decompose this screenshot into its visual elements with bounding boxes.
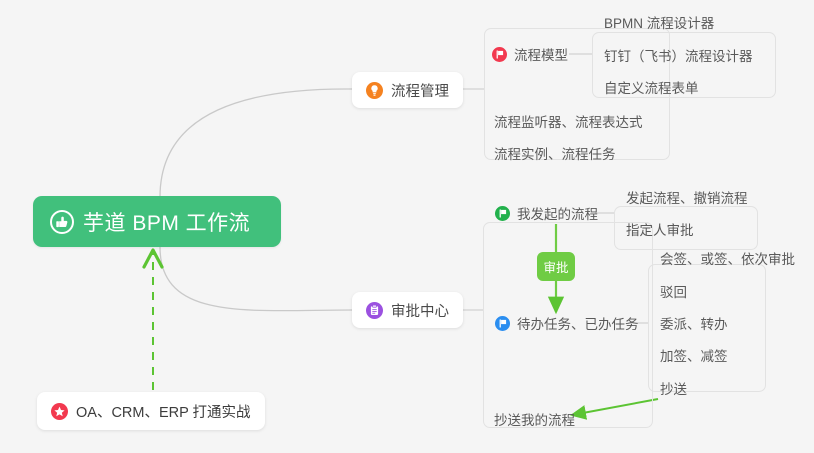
node-bpmn-designer[interactable]: BPMN 流程设计器: [604, 11, 714, 33]
node-label-dingtalk-designer: 钉钉（飞书）流程设计器: [604, 45, 753, 65]
node-label-cc: 抄送: [660, 378, 687, 398]
flag-red-icon: [492, 47, 507, 62]
node-process-instance[interactable]: 流程实例、流程任务: [494, 142, 616, 164]
flag-blue-icon: [495, 316, 510, 331]
root-node[interactable]: 芋道 BPM 工作流: [33, 196, 281, 247]
node-label-assignee-approval: 指定人审批: [626, 219, 694, 239]
node-label-delegate-transfer: 委派、转办: [660, 313, 728, 333]
mindmap-canvas: 芋道 BPM 工作流 流程管理 审批中心: [0, 0, 814, 453]
node-label-countersign: 会签、或签、依次审批: [660, 248, 795, 268]
node-label-process-listener: 流程监听器、流程表达式: [494, 111, 643, 131]
star-icon: [51, 403, 68, 420]
node-my-initiated[interactable]: 我发起的流程: [495, 202, 598, 224]
lightbulb-icon: [366, 82, 383, 99]
node-label-add-remove-sign: 加签、减签: [660, 345, 728, 365]
bottom-note-label: OA、CRM、ERP 打通实战: [76, 401, 251, 422]
node-reject[interactable]: 驳回: [660, 280, 687, 302]
node-label-process-model: 流程模型: [514, 44, 568, 64]
branch-label-process-management: 流程管理: [391, 80, 449, 101]
thumbs-up-icon: [50, 210, 74, 234]
node-cc[interactable]: 抄送: [660, 377, 687, 399]
node-custom-form[interactable]: 自定义流程表单: [604, 76, 699, 98]
node-label-cc-to-me: 抄送我的流程: [494, 409, 575, 429]
approve-tag: 审批: [537, 252, 575, 281]
clipboard-icon: [366, 302, 383, 319]
bottom-note-card[interactable]: OA、CRM、ERP 打通实战: [37, 392, 265, 430]
root-label: 芋道 BPM 工作流: [83, 207, 250, 237]
branch-card-approval-center[interactable]: 审批中心: [352, 292, 463, 328]
node-countersign[interactable]: 会签、或签、依次审批: [660, 247, 795, 269]
node-process-model[interactable]: 流程模型: [492, 43, 568, 65]
node-add-remove-sign[interactable]: 加签、减签: [660, 344, 728, 366]
flag-green-icon: [495, 206, 510, 221]
node-process-listener[interactable]: 流程监听器、流程表达式: [494, 110, 643, 132]
branch-card-process-management[interactable]: 流程管理: [352, 72, 463, 108]
node-label-bpmn-designer: BPMN 流程设计器: [604, 12, 714, 32]
node-label-reject: 驳回: [660, 281, 687, 301]
node-dingtalk-designer[interactable]: 钉钉（飞书）流程设计器: [604, 44, 753, 66]
branch-label-approval-center: 审批中心: [391, 300, 449, 321]
node-label-my-initiated: 我发起的流程: [517, 203, 598, 223]
approve-tag-label: 审批: [543, 257, 568, 276]
node-label-start-cancel-process: 发起流程、撤销流程: [626, 187, 748, 207]
node-label-process-instance: 流程实例、流程任务: [494, 143, 616, 163]
node-todo-done-tasks[interactable]: 待办任务、已办任务: [495, 312, 639, 334]
node-delegate-transfer[interactable]: 委派、转办: [660, 312, 728, 334]
node-label-todo-done-tasks: 待办任务、已办任务: [517, 313, 639, 333]
node-start-cancel-process[interactable]: 发起流程、撤销流程: [626, 186, 748, 208]
node-cc-to-me[interactable]: 抄送我的流程: [494, 408, 575, 430]
node-label-custom-form: 自定义流程表单: [604, 77, 699, 97]
node-assignee-approval[interactable]: 指定人审批: [626, 218, 694, 240]
